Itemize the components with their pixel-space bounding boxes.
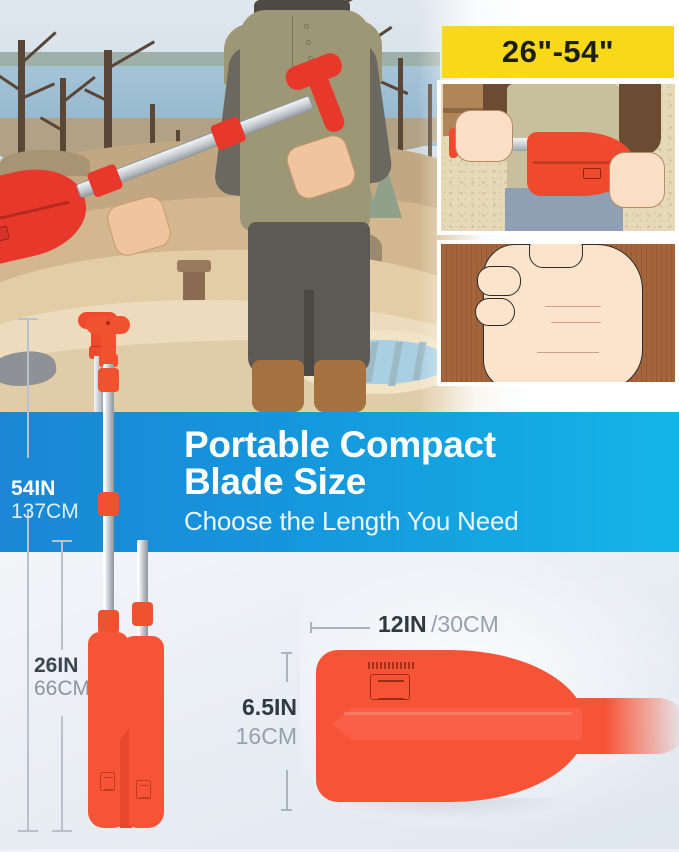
dim-height-cap-bottom [281, 809, 292, 811]
shirt-button [304, 24, 309, 29]
person-boot-right [314, 360, 366, 412]
dim-26in-rule-upper [61, 540, 63, 650]
thumb [529, 244, 583, 268]
brand-logo-icon [136, 780, 151, 799]
inset-photo-grip-detail [437, 240, 679, 386]
brand-logo-icon [583, 168, 601, 179]
dim-54in-inches: 54IN [11, 478, 79, 500]
paddle-lock-collar [98, 368, 119, 392]
dim-26in-label: 26IN 66CM [34, 655, 90, 700]
dim-width-rule [310, 627, 370, 629]
brand-logo-icon [100, 772, 115, 791]
dim-blade-width: 12IN /30CM [310, 620, 550, 650]
paddle-collapsed [120, 536, 166, 830]
brand-logo-icon [370, 674, 410, 700]
length-range-callout: 26"-54" [442, 26, 674, 78]
person-arm-right [619, 84, 661, 154]
dim-26in-rule-lower [61, 716, 63, 830]
paddle-blade [0, 158, 95, 271]
dim-26in-cm: 66CM [34, 677, 90, 700]
blade-closeup [316, 650, 679, 810]
paddle-blade [122, 636, 164, 828]
dim-height-rule-top [286, 652, 288, 682]
inset-a-artwork [441, 84, 675, 231]
dim-54in-label: 54IN 137CM [11, 478, 79, 523]
person-hand-right [609, 152, 665, 208]
paddle-t-handle [282, 50, 363, 142]
dim-height-labels: 6.5IN 16CM [236, 694, 297, 750]
brand-wordmark [368, 662, 414, 669]
dim-width-cm: /30CM [431, 611, 499, 637]
dim-blade-height: 6.5IN 16CM [285, 652, 315, 810]
dim-54in-rule-lower [27, 510, 29, 830]
headline-subtitle: Choose the Length You Need [184, 507, 519, 535]
dim-width-inches: 12IN [378, 611, 427, 637]
dim-width-labels: 12IN /30CM [378, 611, 499, 638]
finger [475, 298, 515, 326]
paddle-lock-collar [98, 610, 119, 634]
dim-26in-tick-bottom [52, 830, 72, 832]
blade-spine [120, 728, 129, 828]
inset-photo-collapsed-paddle [437, 80, 679, 235]
headline-line-1: Portable Compact [184, 426, 519, 463]
dim-54in-tick-bottom [18, 830, 38, 832]
brand-logo-icon [0, 225, 10, 244]
inset-b-artwork [441, 244, 675, 382]
finger [477, 266, 521, 296]
pant-seam [304, 290, 314, 376]
infographic-page: 26"-54" [0, 0, 679, 849]
dim-height-rule-bottom [286, 770, 288, 810]
paddle-lock-collar [132, 602, 153, 626]
dim-26in-inches: 26IN [34, 655, 90, 677]
length-range-label: 26"-54" [502, 34, 614, 70]
dim-height-cm: 16CM [236, 723, 297, 750]
inset-photo-group: 26"-54" [437, 26, 679, 386]
headline-line-2: Blade Size [184, 463, 519, 500]
paddle-shaft [137, 540, 148, 650]
person-hand-left [455, 110, 513, 162]
dim-height-inches: 6.5IN [236, 694, 297, 721]
dim-54in-cm: 137CM [11, 500, 79, 523]
dim-54in-rule-upper [27, 318, 29, 458]
blade-spine-highlight [344, 712, 572, 715]
headline-text-block: Portable Compact Blade Size Choose the L… [184, 426, 519, 535]
person-boot-left [252, 360, 304, 412]
paddle-lock-collar [98, 492, 119, 516]
